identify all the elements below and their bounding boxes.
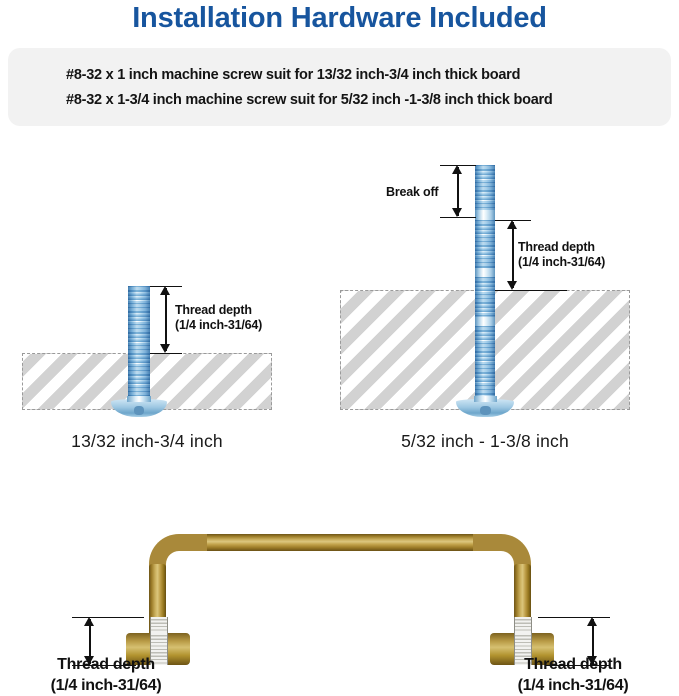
handle-bar [200, 534, 480, 551]
dim-line-left [165, 288, 167, 351]
dim-arrow-up-breakoff [452, 165, 462, 174]
dim-arrow-down-left [160, 344, 170, 353]
dim-tick-bottom-right [495, 290, 567, 291]
handle-dim-tick-top-left [72, 617, 144, 618]
screw-shaft-right-smooth-1 [475, 210, 495, 220]
dim-arrow-up-left [160, 286, 170, 295]
handle-dim-arrow-up-left [84, 617, 94, 626]
thread-depth-label-right-line1: Thread depth [518, 240, 595, 254]
break-off-label: Break off [386, 185, 438, 200]
screw-shaft-right-smooth-3 [475, 317, 495, 326]
thread-depth-annotation-left: Thread depth (1/4 inch-31/64) [175, 303, 262, 333]
dim-tick-bottom-breakoff [440, 217, 476, 218]
handle-label-right-line2: (1/4 inch-31/64) [518, 677, 629, 694]
handle-label-right-line1: Thread depth [524, 656, 622, 673]
thread-depth-label-left-line1: Thread depth [175, 303, 252, 317]
handle-label-left-line2: (1/4 inch-31/64) [51, 677, 162, 694]
screw-head-slot-right [480, 406, 491, 415]
screw-shaft-left [128, 286, 150, 410]
dim-line-right [512, 222, 514, 288]
dim-arrow-down-breakoff [452, 208, 462, 217]
screw-shaft-right-smooth-2 [475, 268, 495, 277]
screw-head-collar-right [474, 396, 497, 402]
thread-depth-label-right-line2: (1/4 inch-31/64) [518, 255, 605, 269]
screw-shaft-right-breakoff-1 [475, 165, 495, 210]
cabinet-handle-illustration: Thread depth (1/4 inch-31/64) Thread dep… [0, 520, 679, 690]
handle-dim-arrow-up-right [587, 617, 597, 626]
screw-head-slot-left [134, 406, 144, 415]
caption-right: 5/32 inch - 1-3/8 inch [340, 431, 630, 452]
caption-left: 13/32 inch-3/4 inch [22, 431, 272, 452]
dim-arrow-up-right [507, 220, 517, 229]
screw-shaft-right-breakoff-2 [475, 220, 495, 268]
screw-shaft-right-breakoff-3 [475, 277, 495, 317]
handle-label-left-line1: Thread depth [57, 656, 155, 673]
thread-depth-label-left-line2: (1/4 inch-31/64) [175, 318, 262, 332]
screw-head-collar-left [127, 396, 151, 402]
dim-tick-bottom-left [150, 353, 182, 354]
handle-dim-tick-top-right [538, 617, 610, 618]
dim-arrow-down-right [507, 281, 517, 290]
thread-depth-annotation-right: Thread depth (1/4 inch-31/64) [518, 240, 605, 270]
